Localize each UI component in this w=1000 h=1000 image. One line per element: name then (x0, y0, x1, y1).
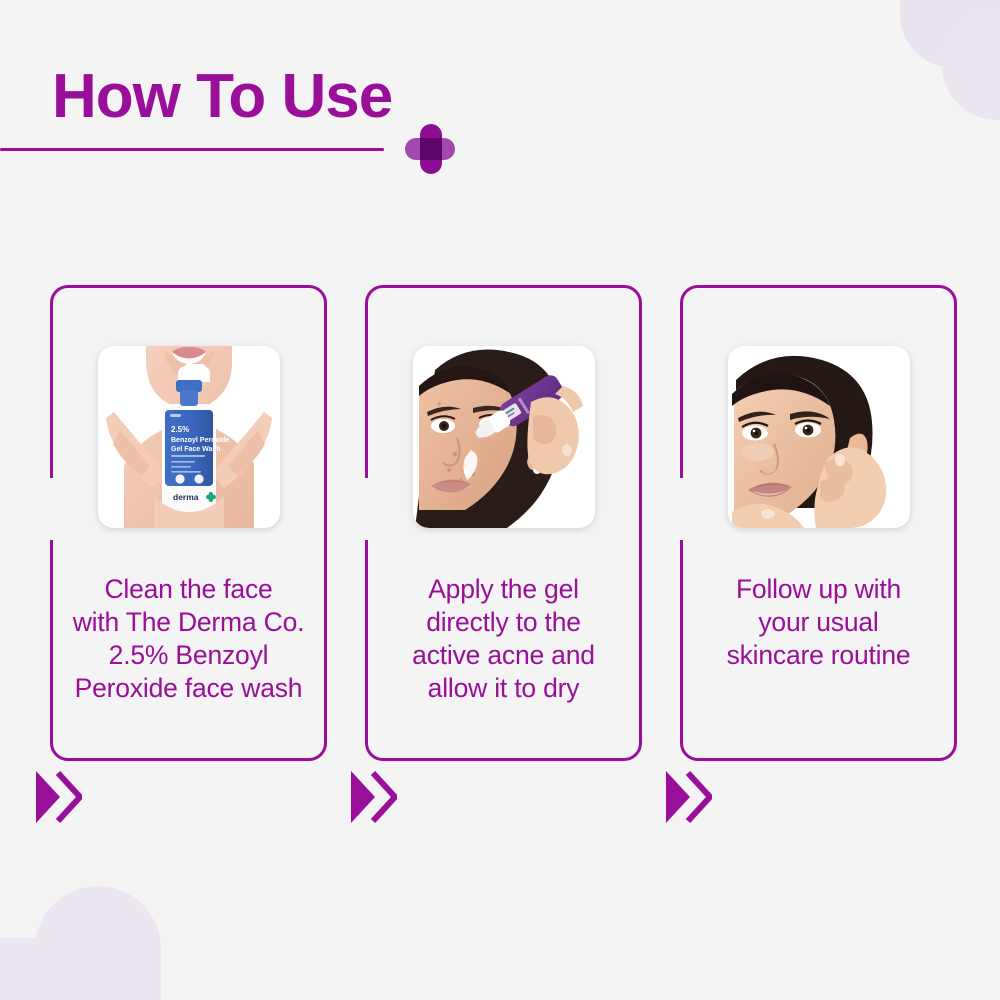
decorative-blob-bottom-left-2 (0, 938, 98, 1000)
header: How To Use (0, 0, 1000, 190)
svg-text:Benzoyl Peroxide: Benzoyl Peroxide (171, 437, 229, 444)
step-card-2: Apply the gel directly to the active acn… (365, 285, 642, 761)
how-to-use-infographic: How To Use (0, 0, 1000, 1000)
plus-icon-horizontal-bar (405, 138, 455, 160)
step-card-2-border-notch (362, 478, 374, 540)
step-2-image (413, 346, 595, 528)
title-underline-rule (0, 148, 384, 151)
double-chevron-right-icon (36, 769, 82, 825)
double-chevron-right-icon (666, 769, 712, 825)
svg-text:2.5%: 2.5% (171, 425, 189, 434)
plus-icon (405, 124, 455, 174)
step-card-3: Follow up with your usual skincare routi… (680, 285, 957, 761)
step-card-3-border-notch (677, 478, 689, 540)
svg-text:Gel Face Wash: Gel Face Wash (171, 446, 221, 453)
step-3-caption: Follow up with your usual skincare routi… (689, 573, 948, 672)
double-chevron-right-icon (351, 769, 397, 825)
step-1-caption: Clean the face with The Derma Co. 2.5% B… (59, 573, 318, 705)
step-2-caption: Apply the gel directly to the active acn… (374, 573, 633, 705)
steps-row: 2.5% Benzoyl Peroxide Gel Face Wash derm… (0, 285, 1000, 765)
decorative-blob-bottom-left-1 (35, 886, 161, 1000)
step-card-1: 2.5% Benzoyl Peroxide Gel Face Wash derm… (50, 285, 327, 761)
svg-text:derma: derma (173, 492, 199, 502)
step-1-image: 2.5% Benzoyl Peroxide Gel Face Wash derm… (98, 346, 280, 528)
page-title: How To Use (52, 66, 392, 128)
step-card-1-border-notch (47, 478, 59, 540)
step-3-image (728, 346, 910, 528)
